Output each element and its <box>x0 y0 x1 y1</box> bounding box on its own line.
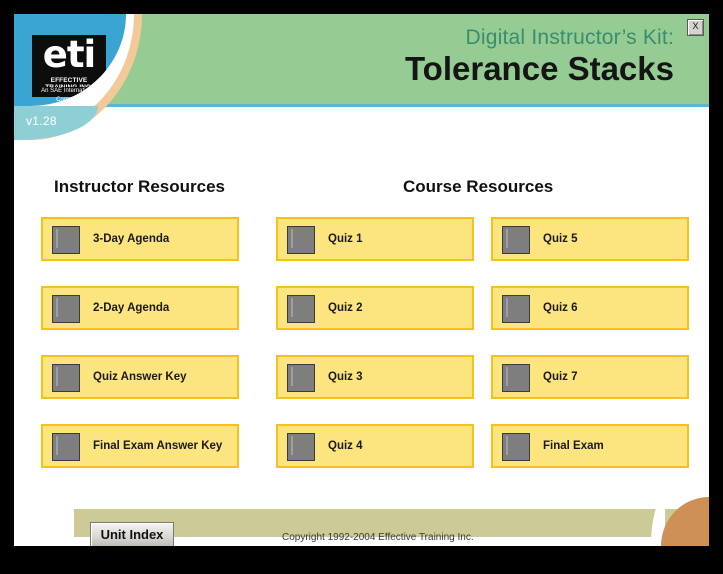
resource-label: Quiz Answer Key <box>93 357 187 397</box>
course-resources-column-right: Quiz 5 Quiz 6 Quiz 7 Final Exam <box>491 217 691 493</box>
resource-label: Final Exam <box>543 426 604 466</box>
resource-button-quiz-1[interactable]: Quiz 1 <box>276 217 474 261</box>
resource-label: Quiz 7 <box>543 357 578 397</box>
application-window: Digital Instructor’s Kit: Tolerance Stac… <box>14 14 709 546</box>
document-icon <box>52 295 80 323</box>
document-icon <box>502 364 530 392</box>
unit-index-button[interactable]: Unit Index <box>90 522 174 546</box>
section-heading-instructor-resources: Instructor Resources <box>54 177 225 197</box>
document-icon <box>287 295 315 323</box>
document-icon <box>287 226 315 254</box>
document-icon <box>502 226 530 254</box>
eti-logo-mark: eti <box>32 33 106 77</box>
resource-button-final-exam-answer-key[interactable]: Final Exam Answer Key <box>41 424 239 468</box>
resource-button-final-exam[interactable]: Final Exam <box>491 424 689 468</box>
resource-label: Final Exam Answer Key <box>93 426 222 466</box>
resource-button-quiz-4[interactable]: Quiz 4 <box>276 424 474 468</box>
document-icon <box>502 433 530 461</box>
header-kicker: Digital Instructor’s Kit: <box>466 26 674 50</box>
resource-button-3-day-agenda[interactable]: 3-Day Agenda <box>41 217 239 261</box>
version-label: v1.28 <box>26 114 57 128</box>
instructor-resources-column: 3-Day Agenda 2-Day Agenda Quiz Answer Ke… <box>41 217 241 493</box>
resource-label: Quiz 3 <box>328 357 363 397</box>
document-icon <box>52 433 80 461</box>
resource-label: Quiz 2 <box>328 288 363 328</box>
resource-button-2-day-agenda[interactable]: 2-Day Agenda <box>41 286 239 330</box>
eti-logo-subtagline: An SAE International Company <box>34 87 104 96</box>
resource-button-quiz-3[interactable]: Quiz 3 <box>276 355 474 399</box>
document-icon <box>287 433 315 461</box>
resource-label: Quiz 6 <box>543 288 578 328</box>
footer-corner-decoration <box>661 497 709 546</box>
course-resources-column-left: Quiz 1 Quiz 2 Quiz 3 Quiz 4 <box>276 217 476 493</box>
document-icon <box>52 364 80 392</box>
document-icon <box>52 226 80 254</box>
resource-label: 2-Day Agenda <box>93 288 169 328</box>
document-icon <box>502 295 530 323</box>
resource-label: Quiz 5 <box>543 219 578 259</box>
copyright-text: Copyright 1992-2004 Effective Training I… <box>282 532 474 543</box>
resource-button-quiz-answer-key[interactable]: Quiz Answer Key <box>41 355 239 399</box>
resource-button-quiz-2[interactable]: Quiz 2 <box>276 286 474 330</box>
page-title: Tolerance Stacks <box>405 50 674 88</box>
resource-label: 3-Day Agenda <box>93 219 169 259</box>
resource-label: Quiz 4 <box>328 426 363 466</box>
close-icon[interactable]: X <box>687 19 704 36</box>
screen: Digital Instructor’s Kit: Tolerance Stac… <box>0 0 723 574</box>
section-heading-course-resources: Course Resources <box>403 177 553 197</box>
resource-button-quiz-7[interactable]: Quiz 7 <box>491 355 689 399</box>
resource-button-quiz-6[interactable]: Quiz 6 <box>491 286 689 330</box>
resource-label: Quiz 1 <box>328 219 363 259</box>
eti-logo: eti EFFECTIVE TRAINING INC. An SAE Inter… <box>32 35 106 97</box>
main-content: Instructor Resources Course Resources 3-… <box>14 107 709 497</box>
document-icon <box>287 364 315 392</box>
resource-button-quiz-5[interactable]: Quiz 5 <box>491 217 689 261</box>
